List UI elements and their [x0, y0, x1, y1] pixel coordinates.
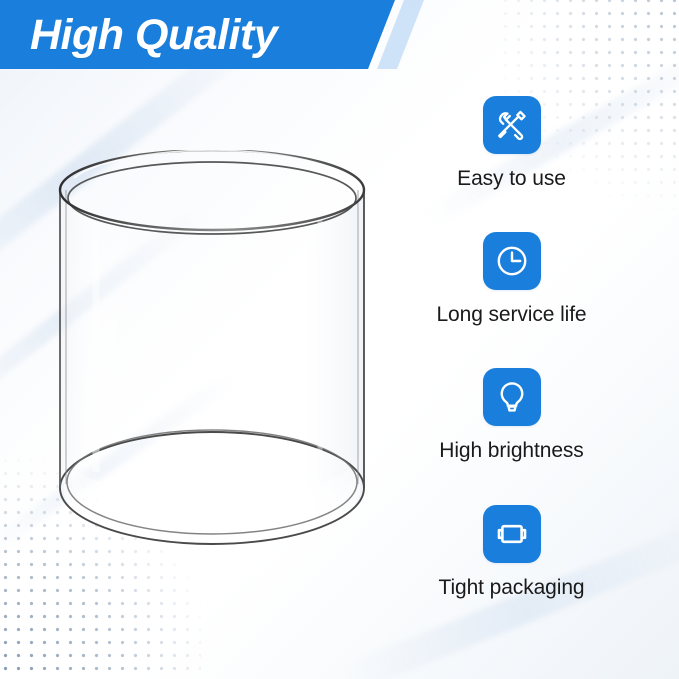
product-feature-infographic: High Quality — [0, 0, 679, 679]
feature-label: High brightness — [404, 438, 619, 464]
feature-label: Long service life — [404, 302, 619, 328]
package-box-icon — [483, 505, 541, 563]
feature-item-long-service-life: Long service life — [404, 232, 619, 328]
product-image-glass-cylinder — [52, 150, 372, 550]
lightbulb-icon — [483, 368, 541, 426]
clock-icon — [483, 232, 541, 290]
feature-item-easy-to-use: Easy to use — [404, 96, 619, 192]
feature-item-tight-packaging: Tight packaging — [404, 505, 619, 601]
banner-title: High Quality — [30, 3, 277, 67]
feature-label: Tight packaging — [404, 575, 619, 601]
feature-label: Easy to use — [404, 166, 619, 192]
banner: High Quality — [0, 0, 400, 69]
feature-item-high-brightness: High brightness — [404, 368, 619, 464]
tools-icon — [483, 96, 541, 154]
